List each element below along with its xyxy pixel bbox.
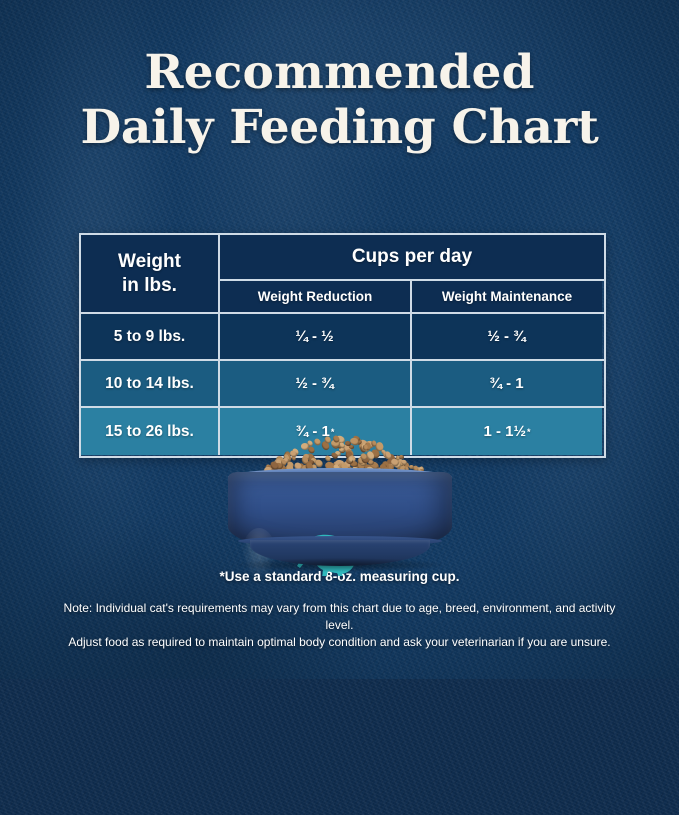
header-cups-per-day: Cups per day	[220, 235, 604, 281]
page-title: Recommended Daily Feeding Chart	[0, 46, 679, 155]
header-subcolumns: Weight Reduction Weight Maintenance	[220, 281, 604, 312]
row-weight-maintenance-value: ½ - ¾	[412, 314, 602, 359]
row-weight-range: 15 to 26 lbs.	[81, 408, 220, 455]
row-weight-maintenance-value: ¾ - 1	[412, 361, 602, 406]
header-weight-maintenance: Weight Maintenance	[412, 281, 602, 312]
disclaimer-note: Note: Individual cat's requirements may …	[48, 600, 631, 651]
table-header-band: Weight in lbs. Cups per day Weight Reduc…	[81, 235, 604, 314]
row-maintenance-text: ½ - ¾	[487, 328, 525, 345]
table-row: 10 to 14 lbs. ½ - ¾ ¾ - 1	[81, 361, 604, 408]
feeding-chart-table: Weight in lbs. Cups per day Weight Reduc…	[79, 233, 606, 458]
row-weight-reduction-value: ¼ - ½	[220, 314, 412, 359]
row-maintenance-text: ¾ - 1	[489, 375, 523, 392]
page-title-line2: Daily Feeding Chart	[0, 100, 679, 155]
row-maintenance-asterisk: *	[527, 427, 531, 437]
table-row: 5 to 9 lbs. ¼ - ½ ½ - ¾	[81, 314, 604, 361]
row-weight-reduction-value: ½ - ¾	[220, 361, 412, 406]
header-weight-in-lbs: Weight in lbs.	[81, 235, 220, 312]
disclaimer-line2: Adjust food as required to maintain opti…	[48, 634, 631, 651]
row-weight-range: 10 to 14 lbs.	[81, 361, 220, 406]
header-weight-reduction: Weight Reduction	[220, 281, 412, 312]
header-cups-group: Cups per day Weight Reduction Weight Mai…	[220, 235, 604, 312]
row-reduction-text: ¼ - ½	[295, 328, 333, 345]
bowl-shadow	[234, 558, 446, 572]
header-weight-line2: in lbs.	[118, 274, 181, 298]
page-title-line1: Recommended	[0, 46, 679, 100]
disclaimer-line1: Note: Individual cat's requirements may …	[48, 600, 631, 634]
header-weight-line1: Weight	[118, 250, 181, 274]
row-reduction-text: ½ - ¾	[295, 375, 333, 392]
row-maintenance-text: 1 - 1½	[483, 423, 526, 440]
dog-food-bowl	[228, 432, 452, 568]
row-weight-range: 5 to 9 lbs.	[81, 314, 220, 359]
